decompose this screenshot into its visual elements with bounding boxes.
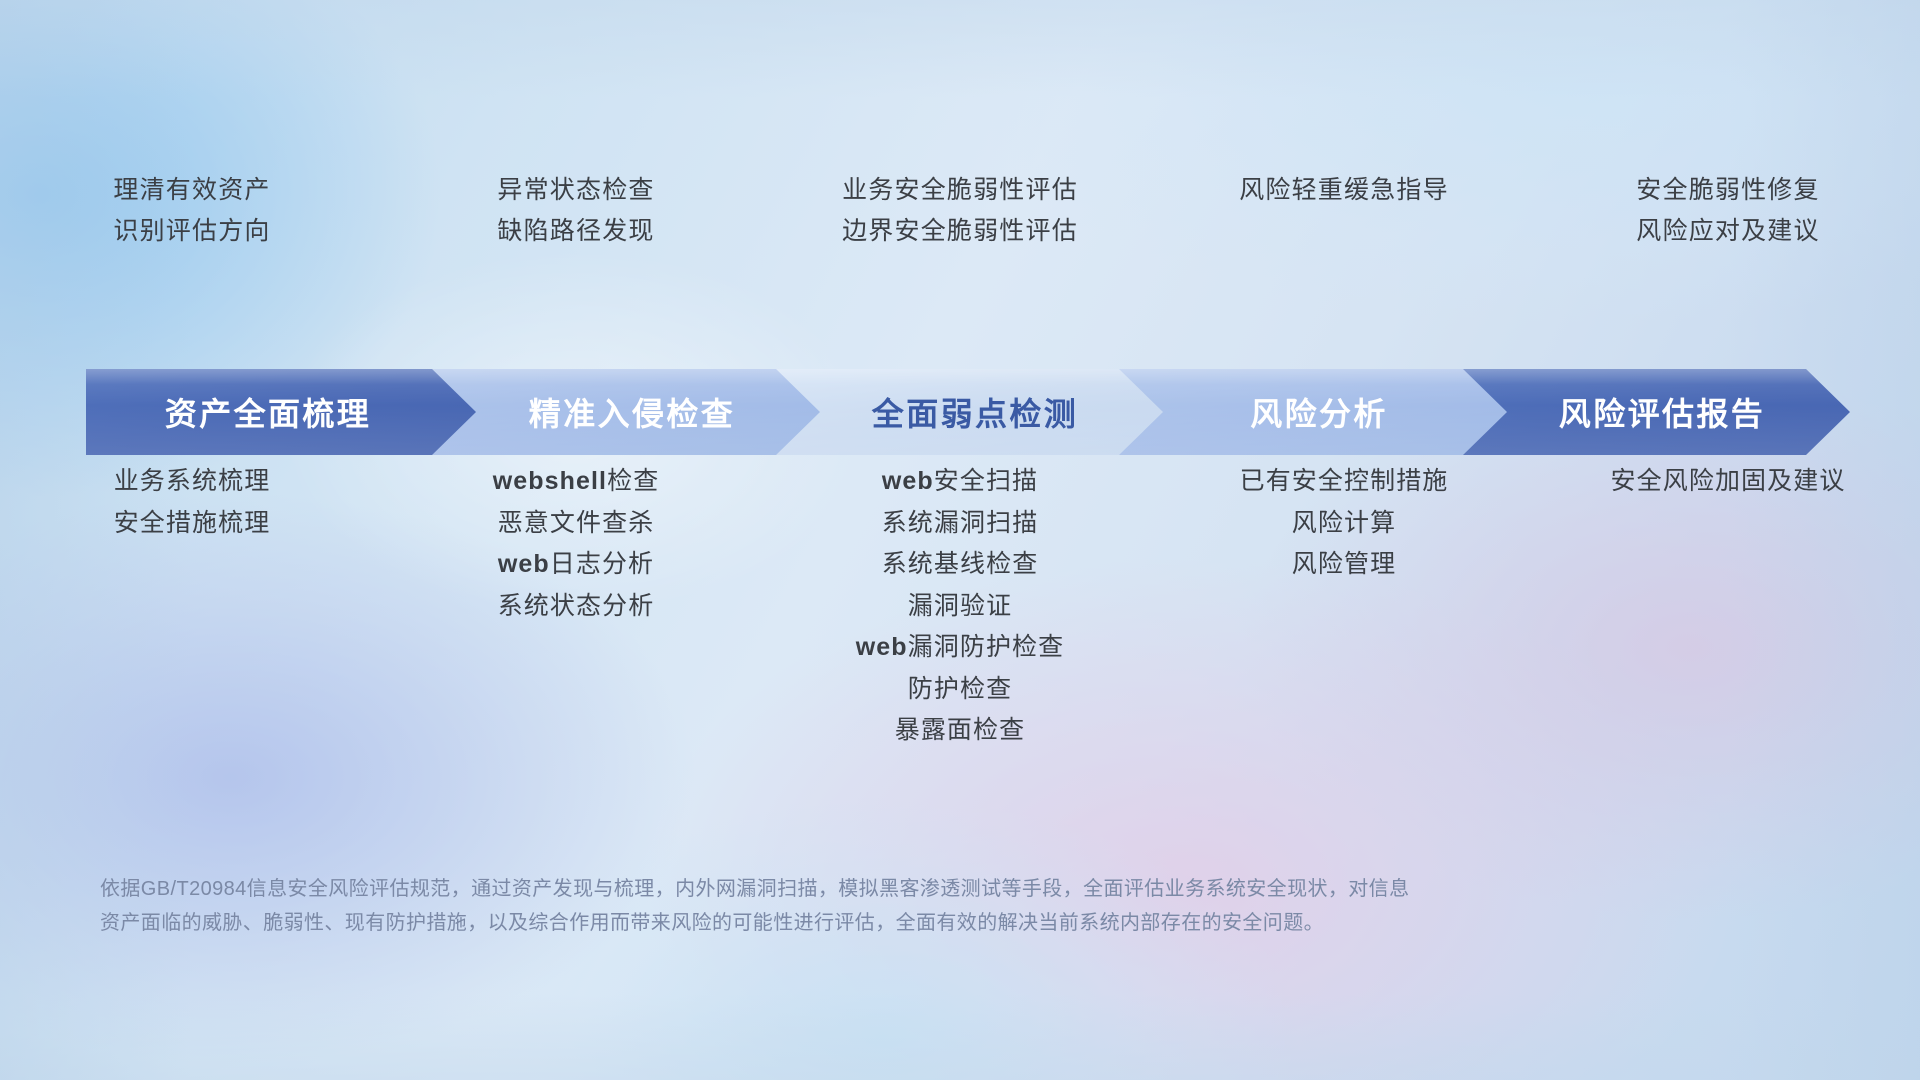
stage-bottom-item: 风险计算 xyxy=(1292,510,1396,538)
stage-bottom-item-text: 检查 xyxy=(607,467,659,495)
process-infographic: 理清有效资产识别评估方向异常状态检查缺陷路径发现业务安全脆弱性评估边界安全脆弱性… xyxy=(0,0,1920,1080)
stage-bottom-item-latin: web xyxy=(882,467,934,495)
stage-bottom-item: 安全措施梳理 xyxy=(114,510,271,538)
stage-bottom-item: 风险管理 xyxy=(1292,551,1396,579)
process-stage-chevron-weakness-detection[interactable]: 全面弱点检测 xyxy=(773,369,1163,455)
stage-bottom-item: web漏洞防护检查 xyxy=(856,634,1065,662)
footer-description: 依据GB/T20984信息安全风险评估规范，通过资产发现与梳理，内外网漏洞扫描，… xyxy=(100,872,1740,940)
chevron-label: 风险评估报告 xyxy=(1559,389,1765,435)
chevron-label: 全面弱点检测 xyxy=(872,389,1078,435)
stage-top-label: 识别评估方向 xyxy=(113,219,270,244)
footer-line-1: 依据GB/T20984信息安全风险评估规范，通过资产发现与梳理，内外网漏洞扫描，… xyxy=(100,872,1740,906)
stage-top-labels-risk-analysis: 风险轻重缓急指导 xyxy=(1152,178,1536,288)
stage-top-label: 风险轻重缓急指导 xyxy=(1239,178,1449,203)
stage-top-label: 边界安全脆弱性评估 xyxy=(842,219,1078,244)
stage-bottom-item: 系统漏洞扫描 xyxy=(882,510,1039,538)
stage-bottom-item-text: 安全扫描 xyxy=(934,467,1038,495)
process-stage-chevron-intrusion-check[interactable]: 精准入侵检查 xyxy=(430,369,820,455)
stage-bottom-item: 防护检查 xyxy=(908,676,1012,704)
stage-bottom-item: webshell检查 xyxy=(493,468,660,496)
stage-bottom-list-risk-analysis: 已有安全控制措施风险计算风险管理 xyxy=(1152,468,1536,579)
process-stage-chevron-risk-analysis[interactable]: 风险分析 xyxy=(1117,369,1507,455)
stage-top-labels-asset-inventory: 理清有效资产识别评估方向 xyxy=(0,178,384,288)
stage-bottom-item-latin: web xyxy=(856,633,908,661)
stage-bottom-item: 安全风险加固及建议 xyxy=(1611,468,1846,496)
chevron-label: 精准入侵检查 xyxy=(529,389,735,435)
stage-top-label: 理清有效资产 xyxy=(113,178,270,203)
stage-bottom-item-text: 日志分析 xyxy=(550,550,654,578)
process-chevron-banner: 资产全面梳理精准入侵检查全面弱点检测风险分析风险评估报告 xyxy=(86,369,1850,455)
chevron-label: 资产全面梳理 xyxy=(165,389,371,435)
stage-top-labels-row: 理清有效资产识别评估方向异常状态检查缺陷路径发现业务安全脆弱性评估边界安全脆弱性… xyxy=(0,178,1920,288)
stage-bottom-item-latin: web xyxy=(498,550,550,578)
stage-bottom-list-intrusion-check: webshell检查恶意文件查杀web日志分析系统状态分析 xyxy=(384,468,768,620)
stage-top-label: 缺陷路径发现 xyxy=(497,219,654,244)
stage-bottom-item: 系统基线检查 xyxy=(882,551,1039,579)
stage-top-label: 安全脆弱性修复 xyxy=(1636,178,1819,203)
stage-top-labels-assessment-report: 安全脆弱性修复风险应对及建议 xyxy=(1536,178,1920,288)
stage-bottom-item: web安全扫描 xyxy=(882,468,1038,496)
chevron-label: 风险分析 xyxy=(1250,389,1388,435)
stage-top-labels-intrusion-check: 异常状态检查缺陷路径发现 xyxy=(384,178,768,288)
stage-top-label: 业务安全脆弱性评估 xyxy=(842,178,1078,203)
stage-top-label: 异常状态检查 xyxy=(497,178,654,203)
stage-bottom-item: 业务系统梳理 xyxy=(114,468,271,496)
stage-bottom-item: 系统状态分析 xyxy=(498,593,655,621)
process-stage-chevron-asset-inventory[interactable]: 资产全面梳理 xyxy=(86,369,476,455)
stage-bottom-item-text: 漏洞防护检查 xyxy=(908,633,1065,661)
stage-bottom-item: 暴露面检查 xyxy=(895,717,1026,745)
stage-bottom-item: 恶意文件查杀 xyxy=(498,510,655,538)
stage-bottom-item: 已有安全控制措施 xyxy=(1240,468,1449,496)
stage-bottom-list-assessment-report: 安全风险加固及建议 xyxy=(1536,468,1920,496)
stage-bottom-lists-row: 业务系统梳理安全措施梳理webshell检查恶意文件查杀web日志分析系统状态分… xyxy=(0,468,1920,745)
footer-line-2: 资产面临的威胁、脆弱性、现有防护措施，以及综合作用而带来风险的可能性进行评估，全… xyxy=(100,906,1740,940)
stage-bottom-list-asset-inventory: 业务系统梳理安全措施梳理 xyxy=(0,468,384,537)
stage-bottom-item-latin: webshell xyxy=(493,467,607,495)
process-stage-chevron-assessment-report[interactable]: 风险评估报告 xyxy=(1460,369,1850,455)
stage-bottom-list-weakness-detection: web安全扫描系统漏洞扫描系统基线检查漏洞验证web漏洞防护检查防护检查暴露面检… xyxy=(768,468,1152,745)
stage-bottom-item: web日志分析 xyxy=(498,551,654,579)
stage-bottom-item: 漏洞验证 xyxy=(908,593,1012,621)
stage-top-label: 风险应对及建议 xyxy=(1636,219,1819,244)
stage-top-labels-weakness-detection: 业务安全脆弱性评估边界安全脆弱性评估 xyxy=(768,178,1152,288)
